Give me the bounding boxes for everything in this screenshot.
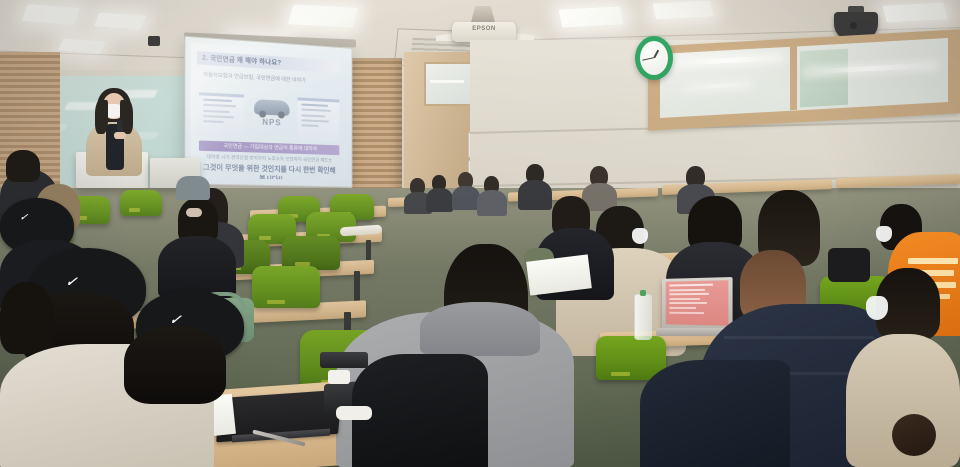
nike-swoosh-icon: ✓ <box>64 274 78 290</box>
chair-empty <box>120 190 162 216</box>
chair-empty <box>252 266 320 308</box>
nike-swoosh-icon: ✓ <box>19 212 29 223</box>
slide-car-graphic <box>254 99 290 116</box>
ceiling-light <box>288 4 359 27</box>
clock-hour-hand <box>653 49 659 58</box>
black-bag <box>828 248 870 282</box>
student-hair <box>6 150 40 182</box>
slide-title-text: 2. 국민연금 왜 해야 하나요? <box>197 51 339 73</box>
clock-face <box>640 41 668 75</box>
slide-box-right <box>297 97 339 141</box>
slide-banner-text: 국민연금 — 가입대상과 연금의 종류에 대하여 <box>199 140 339 155</box>
lecture-hall-photo: EPSON 2. 국민연금 왜 해야 하나요? 자동차보험 <box>0 0 960 467</box>
ceiling-light <box>882 2 947 22</box>
black-backpack <box>352 354 488 467</box>
slide-title-bar: 2. 국민연금 왜 해야 하나요? <box>197 51 339 73</box>
epson-projector: EPSON <box>452 22 516 42</box>
ceiling-light <box>22 4 81 25</box>
student-navy-foreground <box>640 360 790 467</box>
window-mullion <box>790 46 797 110</box>
door-window <box>424 62 472 106</box>
slide-subtitle: 자동차보험과 연금보험, 국민연금에 대한 이야기 <box>203 71 306 84</box>
earphones <box>336 406 372 420</box>
slide-box-left <box>199 92 244 138</box>
chair-empty <box>282 236 340 270</box>
slide-banner: 국민연금 — 가입대상과 연금의 종류에 대하여 <box>199 140 339 155</box>
projection-screen: 2. 국민연금 왜 해야 하나요? 자동차보험과 연금보험, 국민연금에 대한 … <box>184 36 352 188</box>
hair-bun <box>892 414 936 456</box>
student-hair <box>0 282 54 354</box>
ceiling-light <box>653 0 714 19</box>
wood-slat-panel-column <box>352 58 402 206</box>
charger-plug <box>328 370 350 384</box>
smartphone-charging[interactable] <box>320 352 368 368</box>
slide-footer: 대학생 시기 경력단절 방지부터 노후소득 보장까지 국민연금 제도는 그것이 … <box>201 154 337 181</box>
wall-sensor <box>148 36 160 46</box>
hood <box>420 302 540 356</box>
hair-clip <box>186 208 202 217</box>
presentation-slide: 2. 국민연금 왜 해야 하나요? 자동차보험과 연금보험, 국민연금에 대한 … <box>191 42 347 180</box>
slide-nps-logo: NPS <box>254 117 290 128</box>
ceiling-light <box>558 6 623 27</box>
laptop-with-pink-display[interactable] <box>662 277 733 331</box>
cap-gray <box>176 176 210 200</box>
window-green-panel <box>800 49 848 108</box>
projector-brand-label: EPSON <box>452 26 516 32</box>
slide-footer-line2: 그것이 무엇을 위한 것인지를 다시 한번 확인해 봅시다!! <box>201 162 337 181</box>
clock-minute-hand <box>642 57 654 61</box>
water-bottle <box>634 294 652 340</box>
